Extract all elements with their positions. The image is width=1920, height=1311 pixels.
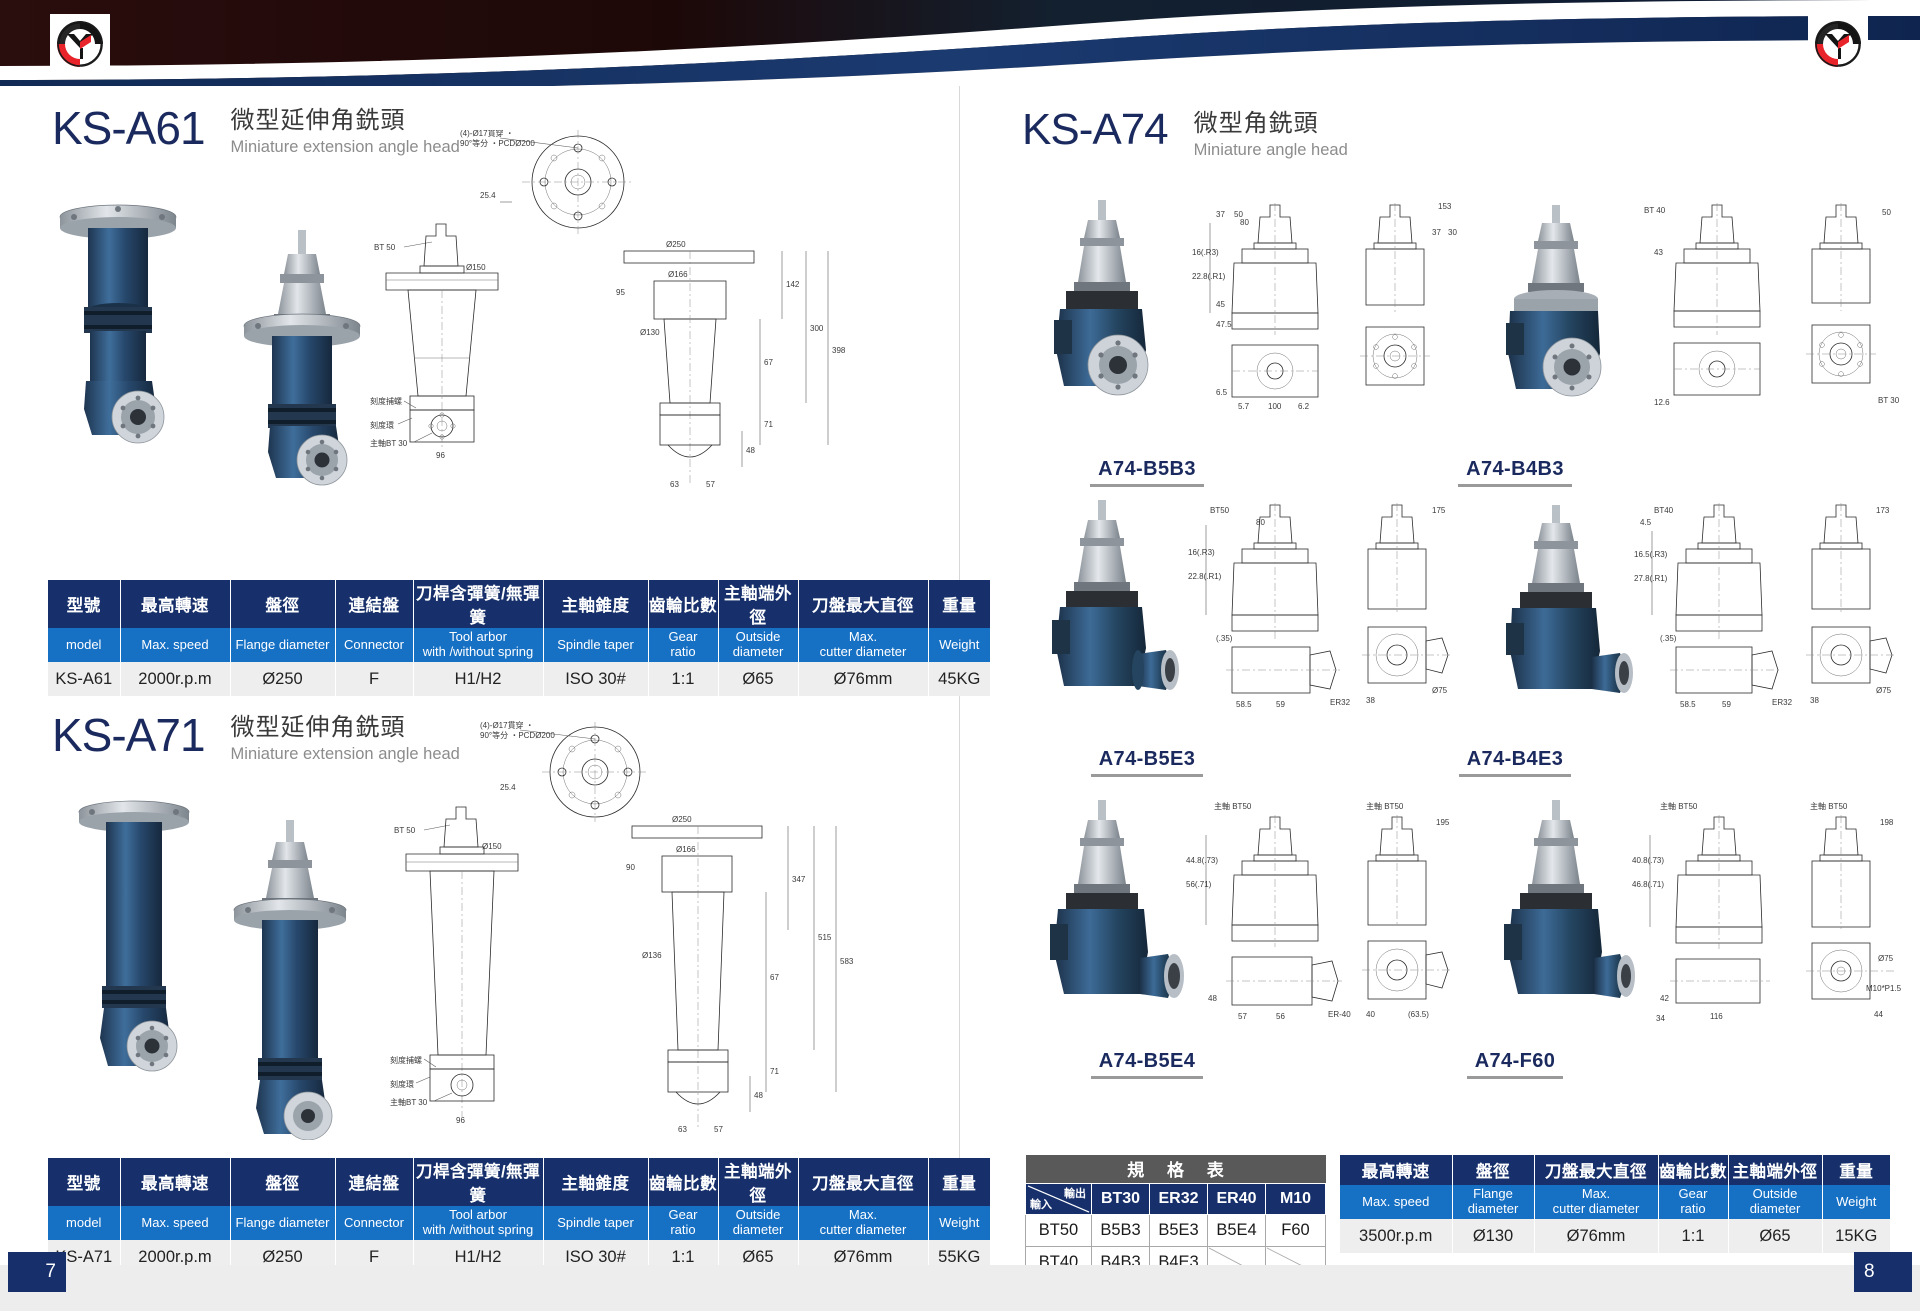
column-header-en: Spindle taper xyxy=(543,628,648,662)
svg-text:38: 38 xyxy=(1366,696,1375,705)
variant-label-a74-b5e3: A74-B5E3 xyxy=(1022,748,1272,777)
svg-text:22.8(.R1): 22.8(.R1) xyxy=(1188,572,1222,581)
svg-text:16(.R3): 16(.R3) xyxy=(1188,548,1215,557)
matrix-row-label: BT50 xyxy=(1026,1214,1092,1246)
column-header-en: Max.cutter diameter xyxy=(1534,1185,1658,1219)
column-header-en: Weight xyxy=(928,628,990,662)
svg-text:59: 59 xyxy=(1276,700,1285,709)
photo-ksa61-front xyxy=(40,195,220,485)
svg-text:(63.5): (63.5) xyxy=(1408,1010,1429,1019)
svg-text:ER32: ER32 xyxy=(1772,698,1793,707)
column-header-cn: 盤徑 xyxy=(230,580,335,628)
svg-text:Ø166: Ø166 xyxy=(676,845,696,854)
table-cell: 3500r.p.m xyxy=(1340,1219,1452,1253)
svg-text:刻度捕螺: 刻度捕螺 xyxy=(370,396,402,406)
table-cell: Ø130 xyxy=(1452,1219,1534,1253)
page-number-left: 7 xyxy=(8,1252,66,1292)
matrix-column-header: ER32 xyxy=(1150,1183,1208,1214)
svg-text:6.2: 6.2 xyxy=(1298,402,1310,411)
product-heading-ksa61: KS-A61 微型延伸角銑頭 Miniature extension angle… xyxy=(52,105,460,158)
matrix-cell: F60 xyxy=(1266,1214,1326,1246)
matrix-table-specification: 規 格 表 輸出 輸入 BT30ER32ER40M10 BT50B5B3B5E3… xyxy=(1025,1155,1326,1279)
svg-text:主軸 BT50: 主軸 BT50 xyxy=(1366,801,1404,811)
svg-text:347: 347 xyxy=(792,875,806,884)
table-cell: 45KG xyxy=(928,662,990,696)
svg-text:67: 67 xyxy=(764,358,773,367)
variant-label-text: A74-B5E4 xyxy=(1091,1050,1204,1079)
column-header-en: model xyxy=(48,1206,120,1240)
column-header-cn: 齒輪比數 xyxy=(1658,1155,1728,1185)
table-header-en-row: Max. speedFlangediameterMax.cutter diame… xyxy=(1340,1185,1890,1219)
svg-text:(4)-Ø17貫穿 ‧: (4)-Ø17貫穿 ‧ xyxy=(460,130,514,138)
svg-text:57: 57 xyxy=(1238,1012,1247,1021)
product-name-cn: 微型角銑頭 xyxy=(1194,110,1348,138)
svg-text:5.7: 5.7 xyxy=(1238,402,1250,411)
photo-ksa71-front xyxy=(58,790,228,1130)
variant-label-text: A74-B4E3 xyxy=(1459,748,1572,777)
column-header-cn: 齒輪比數 xyxy=(648,580,718,628)
svg-text:(4)-Ø17貫穿 ‧: (4)-Ø17貫穿 ‧ xyxy=(480,720,534,730)
svg-text:刻度捕螺: 刻度捕螺 xyxy=(390,1055,422,1065)
table-header-en-row: modelMax. speedFlange diameterConnectorT… xyxy=(48,628,990,662)
svg-text:43: 43 xyxy=(1654,248,1663,257)
svg-text:58.5: 58.5 xyxy=(1236,700,1252,709)
catalog-page: KS-A61 微型延伸角銑頭 Miniature extension angle… xyxy=(0,0,1920,1311)
product-name-en: Miniature extension angle head xyxy=(231,744,460,765)
svg-text:Ø75: Ø75 xyxy=(1432,686,1448,695)
svg-text:44: 44 xyxy=(1874,1010,1883,1019)
svg-text:71: 71 xyxy=(770,1067,779,1076)
svg-text:主軸BT 30: 主軸BT 30 xyxy=(370,438,408,448)
svg-text:主軸 BT50: 主軸 BT50 xyxy=(1214,801,1252,811)
svg-text:ER32: ER32 xyxy=(1330,698,1351,707)
svg-text:BT 30: BT 30 xyxy=(1878,396,1900,405)
company-logo-left xyxy=(50,14,110,74)
svg-text:M10*P1.5: M10*P1.5 xyxy=(1866,984,1902,993)
svg-text:25.4: 25.4 xyxy=(480,191,496,200)
column-header-cn: 盤徑 xyxy=(1452,1155,1534,1185)
column-header-en: Tool arborwith /without spring xyxy=(413,1206,543,1240)
svg-text:142: 142 xyxy=(786,280,800,289)
table-cell: Ø65 xyxy=(1728,1219,1822,1253)
table-value-row: KS-A612000r.p.mØ250FH1/H2ISO 30#1:1Ø65Ø7… xyxy=(48,662,990,696)
table-cell: ISO 30# xyxy=(543,662,648,696)
column-header-cn: 連結盤 xyxy=(335,1158,413,1206)
matrix-cell: B5E4 xyxy=(1208,1214,1266,1246)
column-header-cn: 主軸端外徑 xyxy=(1728,1155,1822,1185)
drawing-ksa61-section: BT 50 Ø150 刻度捕螺 刻度環 主軸 xyxy=(370,218,600,468)
svg-text:Ø75: Ø75 xyxy=(1878,954,1894,963)
column-header-cn: 刀盤最大直徑 xyxy=(1534,1155,1658,1185)
column-header-en: Flangediameter xyxy=(1452,1185,1534,1219)
drawing-a74-b5b3: 37 50 16(.R3) 22.8(.R1) 80 45 47.5 100 5… xyxy=(1180,195,1470,425)
svg-text:34: 34 xyxy=(1656,1014,1665,1023)
spec-table-ksa71: 型號最高轉速盤徑連結盤刀桿含彈簧/無彈簧主軸錐度齒輪比數主軸端外徑刀盤最大直徑重… xyxy=(48,1158,990,1274)
svg-text:38: 38 xyxy=(1810,696,1819,705)
product-name-cn: 微型延伸角銑頭 xyxy=(231,107,460,135)
svg-text:48: 48 xyxy=(746,446,755,455)
product-name-en: Miniature extension angle head xyxy=(231,137,460,158)
svg-text:BT 50: BT 50 xyxy=(394,826,416,835)
svg-text:4.5: 4.5 xyxy=(1640,518,1652,527)
column-header-en: Gearratio xyxy=(648,628,718,662)
photo-a74-b4e3 xyxy=(1480,505,1640,735)
column-header-cn: 主軸端外徑 xyxy=(718,580,798,628)
svg-text:153: 153 xyxy=(1438,202,1452,211)
variant-label-text: A74-F60 xyxy=(1467,1050,1564,1079)
spec-table-ksa74: 最高轉速盤徑刀盤最大直徑齒輪比數主軸端外徑重量 Max. speedFlange… xyxy=(1340,1155,1890,1253)
column-header-en: model xyxy=(48,628,120,662)
svg-text:45: 45 xyxy=(1216,300,1225,309)
column-header-en: Outsidediameter xyxy=(718,628,798,662)
svg-text:(.35): (.35) xyxy=(1660,634,1677,643)
drawing-ksa61-elevation: Ø250 Ø166 Ø130 142 300 398 67 71 48 95 6… xyxy=(610,235,860,495)
svg-text:100: 100 xyxy=(1268,402,1282,411)
top-banner xyxy=(0,0,1920,86)
svg-text:16(.R3): 16(.R3) xyxy=(1192,248,1219,257)
column-header-en: Spindle taper xyxy=(543,1206,648,1240)
drawing-ksa71-section: BT 50 Ø150 刻度捕螺 刻度環 主軸BT 30 96 xyxy=(390,805,620,1135)
column-header-en: Tool arborwith /without spring xyxy=(413,628,543,662)
table-cell: Ø65 xyxy=(718,662,798,696)
column-header-cn: 刀盤最大直徑 xyxy=(798,580,928,628)
drawing-a74-b4b3: BT 40 43 12.6 BT 30 50 xyxy=(1630,195,1910,425)
column-header-en: Max.cutter diameter xyxy=(798,1206,928,1240)
column-header-cn: 主軸端外徑 xyxy=(718,1158,798,1206)
product-code: KS-A74 xyxy=(1022,108,1168,152)
drawing-a74-b5e4: 主軸 BT50 44.8(.73) 56(.71) ER-40 57 56 48… xyxy=(1180,795,1470,1040)
svg-text:主軸BT 30: 主軸BT 30 xyxy=(390,1097,428,1107)
column-header-cn: 刀桿含彈簧/無彈簧 xyxy=(413,1158,543,1206)
svg-text:63: 63 xyxy=(678,1125,687,1134)
svg-text:57: 57 xyxy=(706,480,715,489)
photo-a74-f60 xyxy=(1480,800,1640,1040)
svg-text:515: 515 xyxy=(818,933,832,942)
svg-text:主軸 BT50: 主軸 BT50 xyxy=(1810,801,1848,811)
matrix-row: BT50B5B3B5E3B5E4F60 xyxy=(1026,1214,1326,1246)
matrix-header-row: 輸出 輸入 BT30ER32ER40M10 xyxy=(1026,1183,1326,1214)
svg-text:80: 80 xyxy=(1240,218,1249,227)
svg-text:主軸 BT50: 主軸 BT50 xyxy=(1660,801,1698,811)
svg-text:67: 67 xyxy=(770,973,779,982)
svg-text:Ø136: Ø136 xyxy=(642,951,662,960)
svg-text:6.5: 6.5 xyxy=(1216,388,1228,397)
table-cell: 1:1 xyxy=(1658,1219,1728,1253)
svg-text:25.4: 25.4 xyxy=(500,783,516,792)
svg-text:Ø150: Ø150 xyxy=(466,263,486,272)
svg-text:37: 37 xyxy=(1216,210,1225,219)
variant-label-a74-f60: A74-F60 xyxy=(1390,1050,1640,1079)
svg-text:44.8(.73): 44.8(.73) xyxy=(1186,856,1218,865)
svg-text:96: 96 xyxy=(456,1116,465,1125)
svg-text:583: 583 xyxy=(840,957,854,966)
table-header-en-row: modelMax. speedFlange diameterConnectorT… xyxy=(48,1206,990,1240)
matrix-column-header: BT30 xyxy=(1092,1183,1150,1214)
column-header-en: Flange diameter xyxy=(230,628,335,662)
table-cell: F xyxy=(335,662,413,696)
svg-text:Ø250: Ø250 xyxy=(672,815,692,824)
svg-text:Ø150: Ø150 xyxy=(482,842,502,851)
svg-text:175: 175 xyxy=(1432,506,1446,515)
variant-label-a74-b5e4: A74-B5E4 xyxy=(1022,1050,1272,1079)
svg-text:63: 63 xyxy=(670,480,679,489)
svg-text:57: 57 xyxy=(714,1125,723,1134)
column-header-cn: 最高轉速 xyxy=(120,1158,230,1206)
svg-text:50: 50 xyxy=(1882,208,1891,217)
variant-label-a74-b4e3: A74-B4E3 xyxy=(1390,748,1640,777)
table-header-cn-row: 型號最高轉速盤徑連結盤刀桿含彈簧/無彈簧主軸錐度齒輪比數主軸端外徑刀盤最大直徑重… xyxy=(48,580,990,628)
svg-text:71: 71 xyxy=(764,420,773,429)
column-header-cn: 刀盤最大直徑 xyxy=(798,1158,928,1206)
column-header-en: Connector xyxy=(335,628,413,662)
svg-text:48: 48 xyxy=(754,1091,763,1100)
column-header-en: Outsidediameter xyxy=(1728,1185,1822,1219)
svg-text:ER-40: ER-40 xyxy=(1328,1010,1351,1019)
table-cell: H1/H2 xyxy=(413,662,543,696)
table-value-row: 3500r.p.mØ130Ø76mm1:1Ø6515KG xyxy=(1340,1219,1890,1253)
variant-label-a74-b5b3: A74-B5B3 xyxy=(1022,458,1272,487)
column-header-cn: 重量 xyxy=(1822,1155,1890,1185)
drawing-a74-f60: 主軸 BT50 40.8(.73) 46.8(.71) 42 116 34 主軸… xyxy=(1630,795,1910,1040)
column-header-cn: 連結盤 xyxy=(335,580,413,628)
svg-text:BT40: BT40 xyxy=(1654,506,1674,515)
column-header-en: Max.cutter diameter xyxy=(798,628,928,662)
column-header-cn: 主軸錐度 xyxy=(543,580,648,628)
svg-text:Ø166: Ø166 xyxy=(668,270,688,279)
svg-text:198: 198 xyxy=(1880,818,1894,827)
photo-a74-b5b3 xyxy=(1030,200,1190,430)
svg-text:116: 116 xyxy=(1710,1012,1723,1021)
photo-a74-b5e3 xyxy=(1030,500,1190,735)
variant-label-text: A74-B5B3 xyxy=(1090,458,1204,487)
drawing-a74-b5e3: BT50 80 16(.R3) 22.8(.R1) ER32 58.5 59 (… xyxy=(1180,495,1470,730)
svg-text:56(.71): 56(.71) xyxy=(1186,880,1212,889)
column-header-en: Max. speed xyxy=(1340,1185,1452,1219)
variant-label-text: A74-B4B3 xyxy=(1458,458,1572,487)
table-cell: Ø76mm xyxy=(1534,1219,1658,1253)
column-header-cn: 盤徑 xyxy=(230,1158,335,1206)
table-header-cn-row: 型號最高轉速盤徑連結盤刀桿含彈簧/無彈簧主軸錐度齒輪比數主軸端外徑刀盤最大直徑重… xyxy=(48,1158,990,1206)
matrix-cell: B5B3 xyxy=(1092,1214,1150,1246)
column-header-cn: 最高轉速 xyxy=(120,580,230,628)
company-logo-right xyxy=(1808,14,1868,74)
svg-text:96: 96 xyxy=(436,451,445,460)
column-header-en: Max. speed xyxy=(120,1206,230,1240)
svg-text:BT 50: BT 50 xyxy=(374,243,396,252)
svg-text:Ø75: Ø75 xyxy=(1876,686,1892,695)
variant-label-a74-b4b3: A74-B4B3 xyxy=(1390,458,1640,487)
column-header-en: Flange diameter xyxy=(230,1206,335,1240)
spec-table-ksa61: 型號最高轉速盤徑連結盤刀桿含彈簧/無彈簧主軸錐度齒輪比數主軸端外徑刀盤最大直徑重… xyxy=(48,580,990,696)
column-header-cn: 重量 xyxy=(928,1158,990,1206)
matrix-cell: B5E3 xyxy=(1150,1214,1208,1246)
svg-text:刻度環: 刻度環 xyxy=(370,420,394,430)
matrix-title: 規 格 表 xyxy=(1026,1155,1326,1183)
column-header-cn: 型號 xyxy=(48,580,120,628)
product-code: KS-A71 xyxy=(52,712,205,758)
column-header-en: Gearratio xyxy=(1658,1185,1728,1219)
svg-text:40.8(.73): 40.8(.73) xyxy=(1632,856,1664,865)
svg-text:56: 56 xyxy=(1276,1012,1285,1021)
table-cell: 2000r.p.m xyxy=(120,662,230,696)
matrix-title-row: 規 格 表 xyxy=(1026,1155,1326,1183)
footer-band xyxy=(0,1265,1920,1311)
svg-text:BT50: BT50 xyxy=(1210,506,1230,515)
svg-text:398: 398 xyxy=(832,346,846,355)
product-heading-ksa74: KS-A74 微型角銑頭 Miniature angle head xyxy=(1022,108,1348,161)
svg-text:30: 30 xyxy=(1448,228,1457,237)
matrix-column-header: M10 xyxy=(1266,1183,1326,1214)
photo-a74-b4b3 xyxy=(1480,205,1640,430)
svg-text:90°等分 ‧PCDØ200: 90°等分 ‧PCDØ200 xyxy=(480,730,555,740)
column-header-cn: 最高轉速 xyxy=(1340,1155,1452,1185)
svg-text:173: 173 xyxy=(1876,506,1890,515)
matrix-corner-input: 輸入 xyxy=(1030,1196,1052,1212)
column-header-en: Outsidediameter xyxy=(718,1206,798,1240)
table-cell: 15KG xyxy=(1822,1219,1890,1253)
svg-text:12.6: 12.6 xyxy=(1654,398,1670,407)
column-header-cn: 刀桿含彈簧/無彈簧 xyxy=(413,580,543,628)
svg-text:90°等分 ‧PCDØ200: 90°等分 ‧PCDØ200 xyxy=(460,138,535,148)
product-name-en: Miniature angle head xyxy=(1194,140,1348,161)
svg-text:42: 42 xyxy=(1660,994,1669,1003)
matrix-column-header: ER40 xyxy=(1208,1183,1266,1214)
matrix-corner-cell: 輸出 輸入 xyxy=(1026,1183,1092,1214)
table-cell: 1:1 xyxy=(648,662,718,696)
svg-text:(.35): (.35) xyxy=(1216,634,1233,643)
svg-text:Ø250: Ø250 xyxy=(666,240,686,249)
product-name-cn: 微型延伸角銑頭 xyxy=(231,714,460,742)
drawing-ksa71-elevation: Ø250 Ø166 Ø136 347 515 583 67 71 48 90 6… xyxy=(620,810,870,1140)
table-cell: KS-A61 xyxy=(48,662,120,696)
matrix-corner-output: 輸出 xyxy=(1064,1185,1086,1201)
svg-text:Ø130: Ø130 xyxy=(640,328,660,337)
column-header-en: Gearratio xyxy=(648,1206,718,1240)
svg-text:40: 40 xyxy=(1366,1010,1375,1019)
svg-text:16.5(.R3): 16.5(.R3) xyxy=(1634,550,1668,559)
table-cell: Ø76mm xyxy=(798,662,928,696)
table-cell: Ø250 xyxy=(230,662,335,696)
svg-text:300: 300 xyxy=(810,324,824,333)
column-header-cn: 齒輪比數 xyxy=(648,1158,718,1206)
svg-text:47.5: 47.5 xyxy=(1216,320,1232,329)
column-header-en: Weight xyxy=(928,1206,990,1240)
variant-label-text: A74-B5E3 xyxy=(1091,748,1204,777)
column-header-en: Connector xyxy=(335,1206,413,1240)
svg-text:46.8(.71): 46.8(.71) xyxy=(1632,880,1664,889)
svg-text:48: 48 xyxy=(1208,994,1217,1003)
svg-text:58.5: 58.5 xyxy=(1680,700,1696,709)
product-code: KS-A61 xyxy=(52,105,205,151)
svg-text:195: 195 xyxy=(1436,818,1450,827)
column-header-cn: 主軸錐度 xyxy=(543,1158,648,1206)
drawing-a74-b4e3: BT40 4.5 16.5(.R3) 27.8(.R1) ER32 58.5 5… xyxy=(1630,495,1910,730)
svg-text:BT 40: BT 40 xyxy=(1644,206,1666,215)
svg-text:59: 59 xyxy=(1722,700,1731,709)
column-header-en: Max. speed xyxy=(120,628,230,662)
column-header-en: Weight xyxy=(1822,1185,1890,1219)
svg-text:95: 95 xyxy=(616,288,625,297)
column-header-cn: 型號 xyxy=(48,1158,120,1206)
svg-text:80: 80 xyxy=(1256,518,1265,527)
svg-text:27.8(.R1): 27.8(.R1) xyxy=(1634,574,1668,583)
svg-text:90: 90 xyxy=(626,863,635,872)
svg-text:37: 37 xyxy=(1432,228,1441,237)
table-header-cn-row: 最高轉速盤徑刀盤最大直徑齒輪比數主軸端外徑重量 xyxy=(1340,1155,1890,1185)
svg-text:22.8(.R1): 22.8(.R1) xyxy=(1192,272,1226,281)
photo-ksa71-with-arbor xyxy=(210,820,390,1140)
photo-a74-b5e4 xyxy=(1030,800,1190,1040)
svg-text:刻度環: 刻度環 xyxy=(390,1079,414,1089)
page-number-right: 8 xyxy=(1854,1252,1912,1292)
product-heading-ksa71: KS-A71 微型延伸角銑頭 Miniature extension angle… xyxy=(52,712,460,765)
column-header-cn: 重量 xyxy=(928,580,990,628)
